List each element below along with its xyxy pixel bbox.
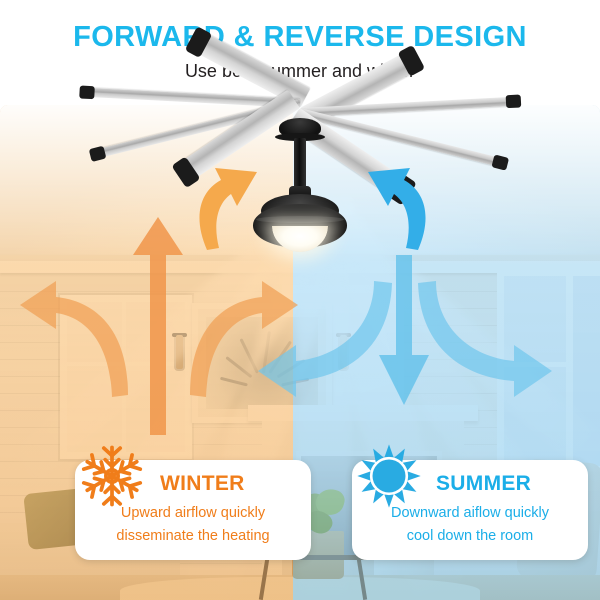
summer-title: SUMMER xyxy=(436,472,531,496)
product-feature-image: FORWARD & REVERSE DESIGN Use both summer… xyxy=(0,0,600,600)
reverse-rotation-arrow xyxy=(175,162,270,254)
winter-line-1: Upward airflow quickly xyxy=(75,505,311,521)
sun-icon xyxy=(356,443,422,509)
summer-line-2: cool down the room xyxy=(352,528,588,544)
summer-line-1: Downward aiflow quickly xyxy=(352,505,588,521)
snowflake-icon xyxy=(78,442,146,510)
winter-line-2: disseminate the heating xyxy=(75,528,311,544)
winter-title: WINTER xyxy=(160,472,245,496)
forward-rotation-arrow xyxy=(355,162,450,254)
ceiling-fan xyxy=(0,0,600,200)
